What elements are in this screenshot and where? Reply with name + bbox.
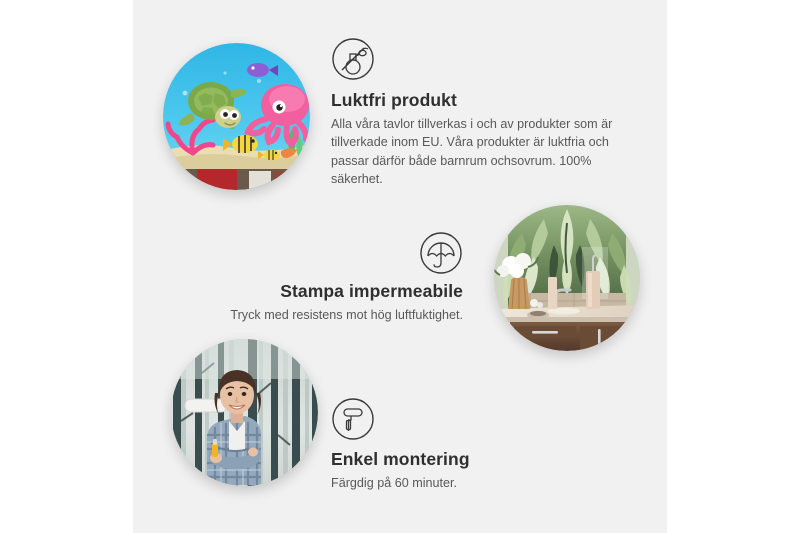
feature-body: Färgdig på 60 minuter. <box>331 474 611 492</box>
forest-mural-illustration <box>171 339 318 486</box>
bathroom-botanical-wallpaper-photo <box>494 205 640 351</box>
feature-waterproof: Stampa impermeabile Tryck med resistens … <box>182 231 463 324</box>
bathroom-interior-illustration <box>494 205 640 351</box>
woman-with-paint-roller-forest-photo <box>171 339 318 486</box>
feature-title: Luktfri produkt <box>331 90 621 111</box>
umbrella-icon <box>419 231 463 275</box>
feature-easy-mounting: Enkel montering Färgdig på 60 minuter. <box>331 397 611 492</box>
feature-title: Enkel montering <box>331 449 611 470</box>
paint-roller-icon <box>331 397 375 441</box>
underwater-kids-mural-photo <box>163 43 310 190</box>
feature-title: Stampa impermeabile <box>182 281 463 302</box>
feature-body: Tryck med resistens mot hög luftfuktighe… <box>182 306 463 324</box>
feature-odourless: Luktfri produkt Alla våra tavlor tillver… <box>331 37 621 188</box>
no-odour-spray-bottle-icon <box>331 37 375 81</box>
underwater-scene-illustration <box>163 43 310 190</box>
feature-body: Alla våra tavlor tillverkas i och av pro… <box>331 115 613 188</box>
promo-banner: Luktfri produkt Alla våra tavlor tillver… <box>0 0 800 533</box>
